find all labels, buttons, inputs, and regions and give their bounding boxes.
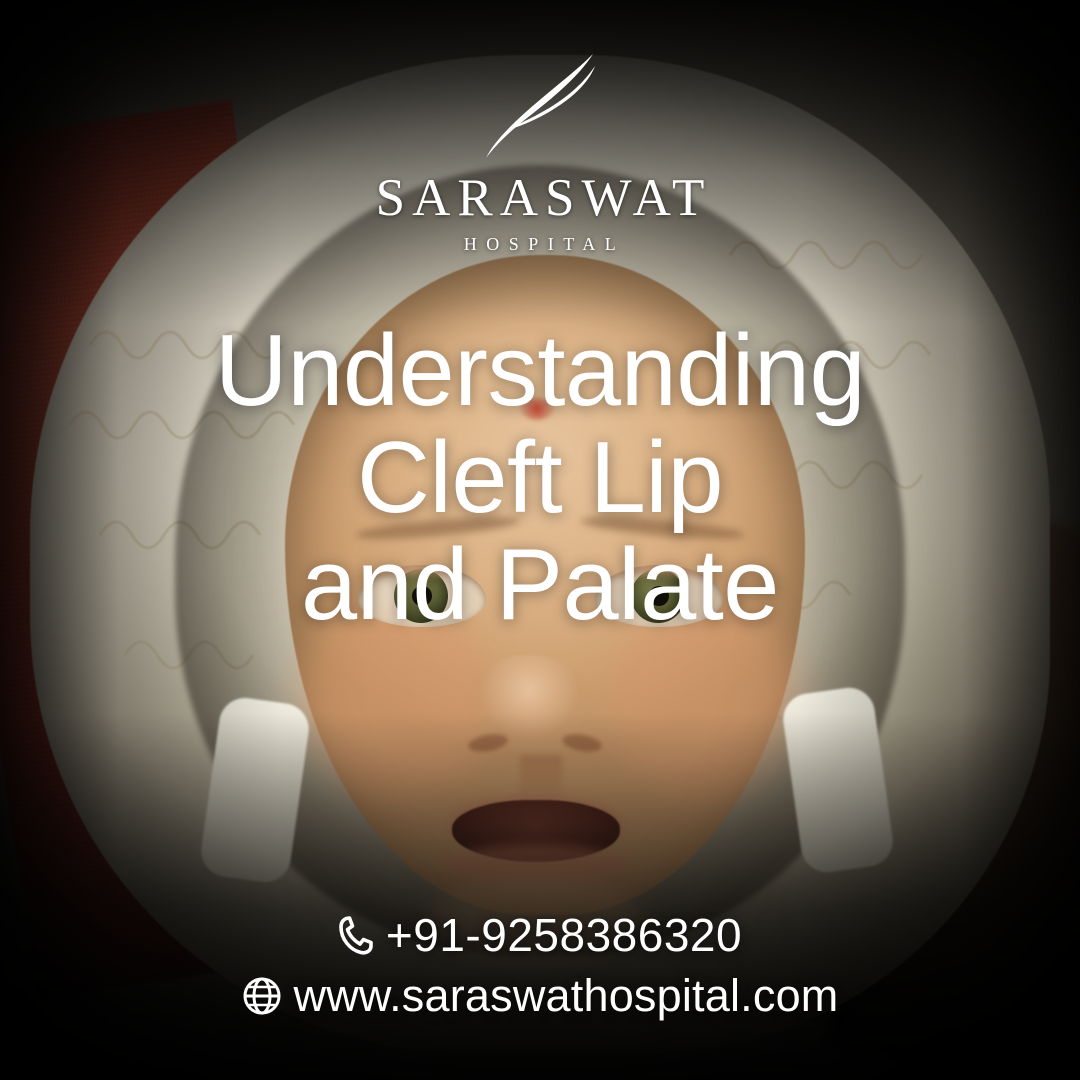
poster-canvas: SARASWAT HOSPITAL Understanding Cleft Li… (0, 0, 1080, 1080)
page-title: Understanding Cleft Lip and Palate (0, 318, 1080, 639)
website-url: www.saraswathospital.com (294, 970, 839, 1022)
poster-content: SARASWAT HOSPITAL Understanding Cleft Li… (0, 0, 1080, 1080)
globe-icon (242, 976, 282, 1016)
brand-logo: SARASWAT HOSPITAL (0, 46, 1080, 255)
leaf-swoosh-icon (475, 46, 605, 168)
website-row[interactable]: www.saraswathospital.com (0, 970, 1080, 1022)
headline-line-3: and Palate (0, 532, 1080, 639)
headline-line-1: Understanding (0, 318, 1080, 425)
contact-block: +91-9258386320 www.saraswathospital.com (0, 908, 1080, 1022)
brand-name: SARASWAT (0, 172, 1080, 225)
phone-icon (338, 915, 374, 955)
headline-line-2: Cleft Lip (0, 425, 1080, 532)
phone-row[interactable]: +91-9258386320 (0, 908, 1080, 962)
brand-tagline: HOSPITAL (0, 234, 1080, 255)
phone-number: +91-9258386320 (386, 908, 742, 962)
